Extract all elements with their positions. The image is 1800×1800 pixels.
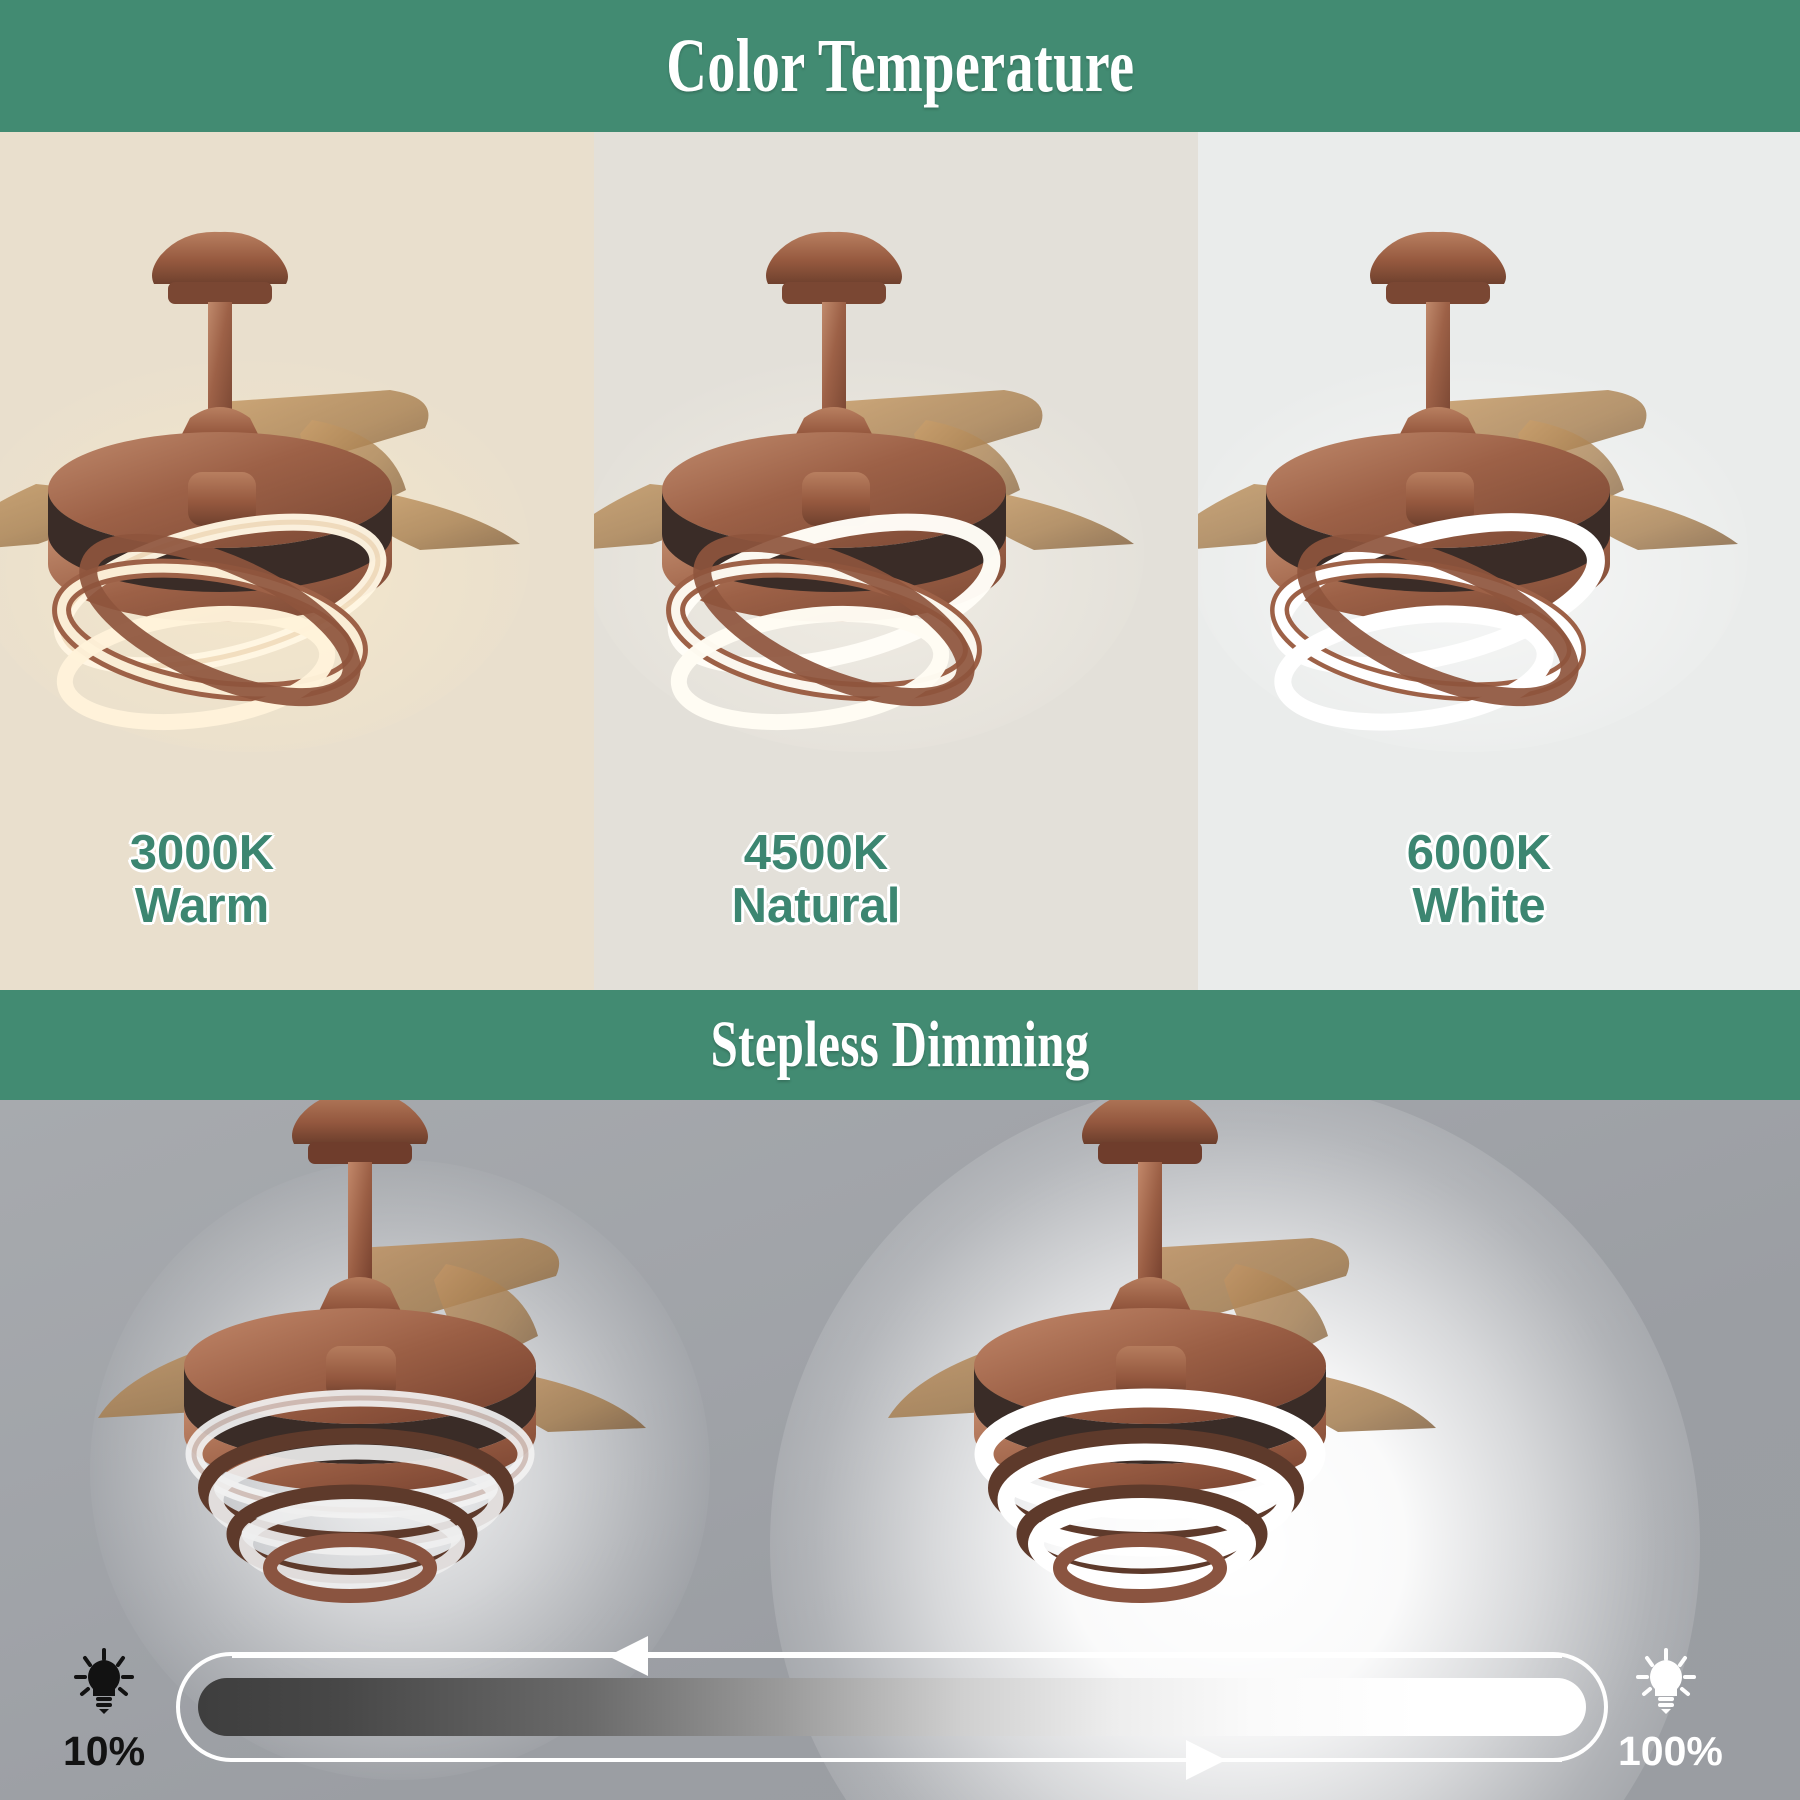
color-temperature-panel-6000k[interactable]: 6000K White: [1198, 132, 1800, 990]
kelvin-name-6000k: White: [1198, 880, 1780, 932]
lightbulb-icon: [73, 1648, 135, 1714]
slider-arrow-line-decrease: [232, 1654, 1562, 1658]
arrow-right-icon: [1186, 1740, 1226, 1780]
slider-arrow-line-increase: [232, 1758, 1562, 1762]
ceiling-fan-illustration-10-percent: [70, 1100, 750, 1648]
color-temperature-panels: 3000K Warm: [0, 132, 1800, 990]
color-temperature-panel-4500k[interactable]: 4500K Natural: [594, 132, 1198, 990]
caption-6000k: 6000K White: [1198, 827, 1780, 932]
kelvin-value-3000k: 3000K: [0, 827, 499, 879]
brightness-max-indicator: 100%: [1618, 1648, 1714, 1772]
color-temperature-title: Color Temperature: [666, 28, 1134, 104]
ceiling-fan-illustration-natural: [594, 222, 1198, 782]
kelvin-name-3000k: Warm: [0, 880, 499, 932]
ceiling-fan-illustration-white: [1198, 222, 1800, 782]
stepless-dimming-header: Stepless Dimming: [0, 990, 1800, 1100]
dimmer-slider[interactable]: 10% 10: [0, 1620, 1800, 1800]
stepless-dimming-title: Stepless Dimming: [710, 1012, 1089, 1078]
product-infographic: Color Temperature: [0, 0, 1800, 1800]
color-temperature-panel-3000k[interactable]: 3000K Warm: [0, 132, 594, 990]
kelvin-value-6000k: 6000K: [1198, 827, 1780, 879]
kelvin-value-4500k: 4500K: [594, 827, 1118, 879]
caption-3000k: 3000K Warm: [0, 827, 499, 932]
ceiling-fan-illustration-100-percent: [860, 1100, 1540, 1648]
ceiling-fan-illustration-warm: [0, 222, 594, 782]
color-temperature-header: Color Temperature: [0, 0, 1800, 132]
brightness-max-label: 100%: [1618, 1731, 1714, 1772]
lightbulb-icon: [1635, 1648, 1697, 1714]
kelvin-name-4500k: Natural: [594, 880, 1118, 932]
slider-brightness-gradient[interactable]: [198, 1678, 1586, 1736]
brightness-min-indicator: 10%: [56, 1648, 152, 1772]
caption-4500k: 4500K Natural: [594, 827, 1118, 932]
arrow-left-icon: [608, 1636, 648, 1676]
brightness-min-label: 10%: [56, 1731, 152, 1772]
